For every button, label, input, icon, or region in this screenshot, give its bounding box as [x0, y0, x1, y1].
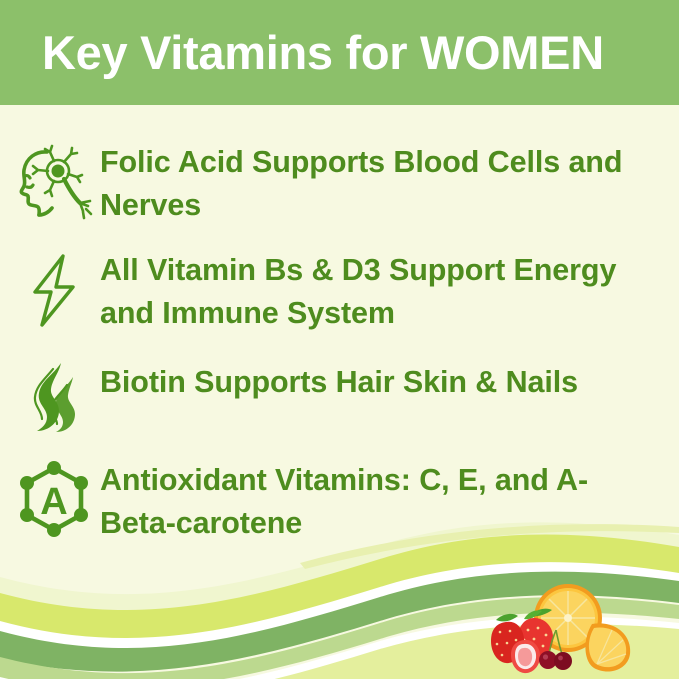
svg-text:A: A [40, 481, 67, 523]
benefit-item-antioxidant: A Antioxidant Vitamins: C, E, and A-Beta… [0, 459, 679, 545]
hexagon-molecule-a-icon: A [0, 459, 100, 537]
benefits-list: Folic Acid Supports Blood Cells and Nerv… [0, 105, 679, 545]
benefit-label: Folic Acid Supports Blood Cells and Nerv… [100, 141, 640, 227]
benefit-label: Biotin Supports Hair Skin & Nails [100, 361, 578, 404]
orange-wedge [585, 623, 630, 671]
leaf-flame-icon [0, 361, 100, 433]
benefit-label: Antioxidant Vitamins: C, E, and A-Beta-c… [100, 459, 640, 545]
infographic-root: Key Vitamins for WOMEN [0, 0, 679, 679]
benefit-item-biotin: Biotin Supports Hair Skin & Nails [0, 361, 679, 433]
benefit-item-folic-acid: Folic Acid Supports Blood Cells and Nerv… [0, 141, 679, 227]
page-title: Key Vitamins for WOMEN [0, 29, 604, 76]
benefit-label: All Vitamin Bs & D3 Support Energy and I… [100, 249, 640, 335]
header-band: Key Vitamins for WOMEN [0, 0, 679, 105]
strawberry-half [511, 640, 540, 673]
fruit-cluster [480, 578, 645, 678]
benefit-item-vitamin-b-d3: All Vitamin Bs & D3 Support Energy and I… [0, 249, 679, 335]
lightning-bolt-icon [0, 249, 100, 329]
head-neuron-icon [0, 141, 100, 221]
